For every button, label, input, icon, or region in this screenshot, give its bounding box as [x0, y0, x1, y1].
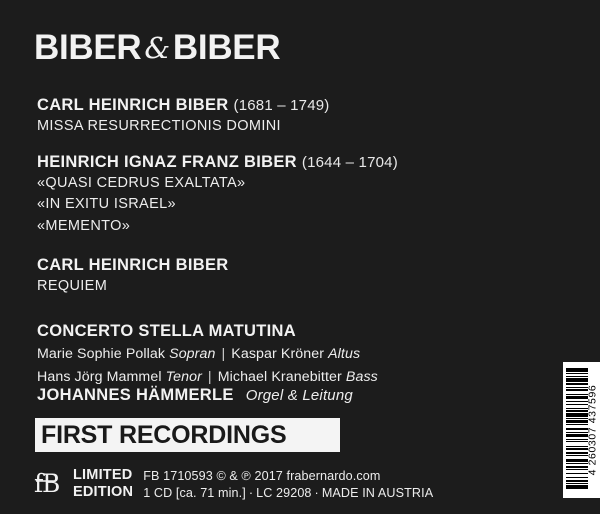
performer-name: Michael Kranebitter [218, 369, 342, 385]
performer-line: Hans Jörg Mammel Tenor|Michael Kranebitt… [37, 367, 378, 387]
composer-name: HEINRICH IGNAZ FRANZ BIBER(1644 – 1704) [37, 152, 398, 173]
barcode-digits: 4 260307 437596 [586, 362, 599, 498]
performer-separator: | [215, 346, 231, 362]
composer-dates: (1644 – 1704) [297, 154, 398, 171]
work-title: «IN EXITU ISRAEL» [37, 194, 398, 215]
lc-code: LC 29208 [256, 486, 311, 500]
composer-label: HEINRICH IGNAZ FRANZ BIBER [37, 153, 297, 171]
catalog-line-copyright: FB 1710593 © & ℗ 2017 frabernardo.com [143, 468, 433, 485]
first-recordings-banner: FIRST RECORDINGS [35, 418, 340, 452]
work-title: REQUIEM [37, 276, 229, 297]
barcode-bars [566, 368, 588, 492]
album-title-part-two: BIBER [173, 28, 280, 67]
composer-label: CARL HEINRICH BIBER [37, 256, 229, 274]
work-block: CARL HEINRICH BIBER REQUIEM [37, 255, 229, 297]
limited-edition-line-1: LIMITED [73, 467, 133, 484]
limited-edition-label: LIMITED EDITION [73, 466, 133, 501]
disc-duration: 1 CD [ca. 71 min.] [143, 486, 246, 500]
cd-back-cover: BIBER&BIBER CARL HEINRICH BIBER(1681 – 1… [0, 0, 600, 514]
work-title: «MEMENTO» [37, 216, 398, 237]
ensemble-block: CONCERTO STELLA MATUTINA Marie Sophie Po… [37, 322, 378, 387]
album-title: BIBER&BIBER [34, 30, 280, 65]
work-block: CARL HEINRICH BIBER(1681 – 1749) MISSA R… [37, 95, 330, 137]
barcode-number: 4 260307 437596 [587, 385, 599, 476]
performer-role: Altus [328, 346, 360, 362]
detail-separator: · [312, 486, 322, 500]
conductor-block: JOHANNES HÄMMERLEOrgel & Leitung [37, 386, 353, 405]
footer: f B LIMITED EDITION FB 1710593 © & ℗ 201… [33, 466, 433, 503]
composer-name: CARL HEINRICH BIBER(1681 – 1749) [37, 95, 330, 116]
svg-text:B: B [42, 469, 60, 498]
work-title: MISSA RESURRECTIONIS DOMINI [37, 116, 330, 137]
conductor-name: JOHANNES HÄMMERLE [37, 386, 234, 404]
performer-line: Marie Sophie Pollak Sopran|Kaspar Kröner… [37, 344, 378, 364]
limited-edition-line-2: EDITION [73, 484, 133, 501]
barcode-panel: 4 260307 437596 [563, 362, 600, 498]
ampersand-glyph: & [141, 31, 173, 65]
catalog-info: FB 1710593 © & ℗ 2017 frabernardo.com 1 … [143, 466, 433, 503]
first-recordings-label: FIRST RECORDINGS [35, 423, 286, 448]
work-title: «QUASI CEDRUS EXALTATA» [37, 173, 398, 194]
album-title-part-one: BIBER [34, 28, 141, 67]
composer-dates: (1681 – 1749) [229, 97, 330, 114]
performer-role: Tenor [166, 369, 202, 385]
performer-name: Marie Sophie Pollak [37, 346, 165, 362]
catalog-line-details: 1 CD [ca. 71 min.]·LC 29208·MADE IN AUST… [143, 485, 433, 502]
performer-name: Kaspar Kröner [231, 346, 324, 362]
performer-separator: | [202, 369, 218, 385]
conductor-role: Orgel & Leitung [234, 387, 353, 404]
country-of-origin: MADE IN AUSTRIA [322, 486, 433, 500]
composer-name: CARL HEINRICH BIBER [37, 255, 229, 276]
work-block: HEINRICH IGNAZ FRANZ BIBER(1644 – 1704) … [37, 152, 398, 237]
ensemble-name: CONCERTO STELLA MATUTINA [37, 322, 378, 341]
fb-monogram-logo-icon: f B [33, 466, 67, 500]
composer-label: CARL HEINRICH BIBER [37, 96, 229, 114]
performer-role: Bass [346, 369, 378, 385]
performer-name: Hans Jörg Mammel [37, 369, 162, 385]
detail-separator: · [246, 486, 256, 500]
performer-role: Sopran [169, 346, 215, 362]
